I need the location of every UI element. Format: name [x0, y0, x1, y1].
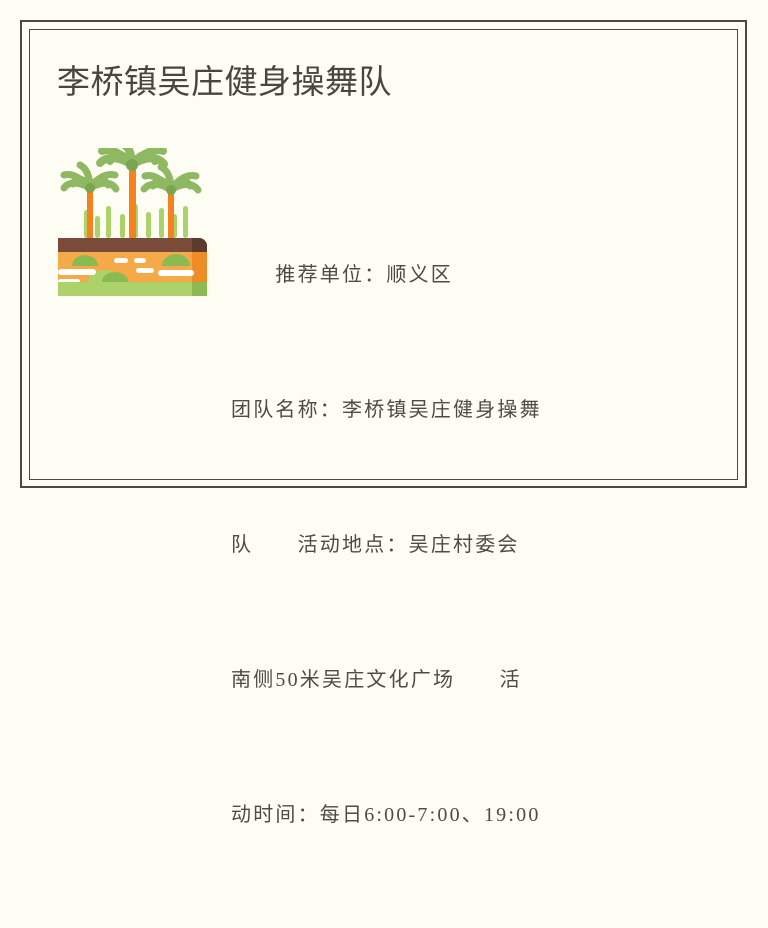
- detail-line-1: 推荐单位：顺义区: [231, 253, 661, 298]
- detail-line-5: 动时间：每日6:00-7:00、19:00: [231, 793, 661, 838]
- detail-line-2: 团队名称：李桥镇吴庄健身操舞: [231, 388, 661, 433]
- palm-crown-center-center: [126, 159, 138, 171]
- foreground-grass: [58, 282, 207, 296]
- page-title: 李桥镇吴庄健身操舞队: [57, 60, 392, 104]
- detail-line-3: 队 活动地点：吴庄村委会: [231, 523, 661, 568]
- team-details-text: 推荐单位：顺义区 团队名称：李桥镇吴庄健身操舞 队 活动地点：吴庄村委会 南侧5…: [231, 163, 661, 928]
- soil-layer: [58, 238, 207, 252]
- palm-crown-right-center: [166, 185, 176, 195]
- detail-line-4: 南侧50米吴庄文化广场 活: [231, 658, 661, 703]
- page-root: 李桥镇吴庄健身操舞队: [0, 0, 768, 510]
- oasis-palm-trees-icon: [58, 148, 211, 296]
- palm-crown-left-center: [85, 183, 95, 193]
